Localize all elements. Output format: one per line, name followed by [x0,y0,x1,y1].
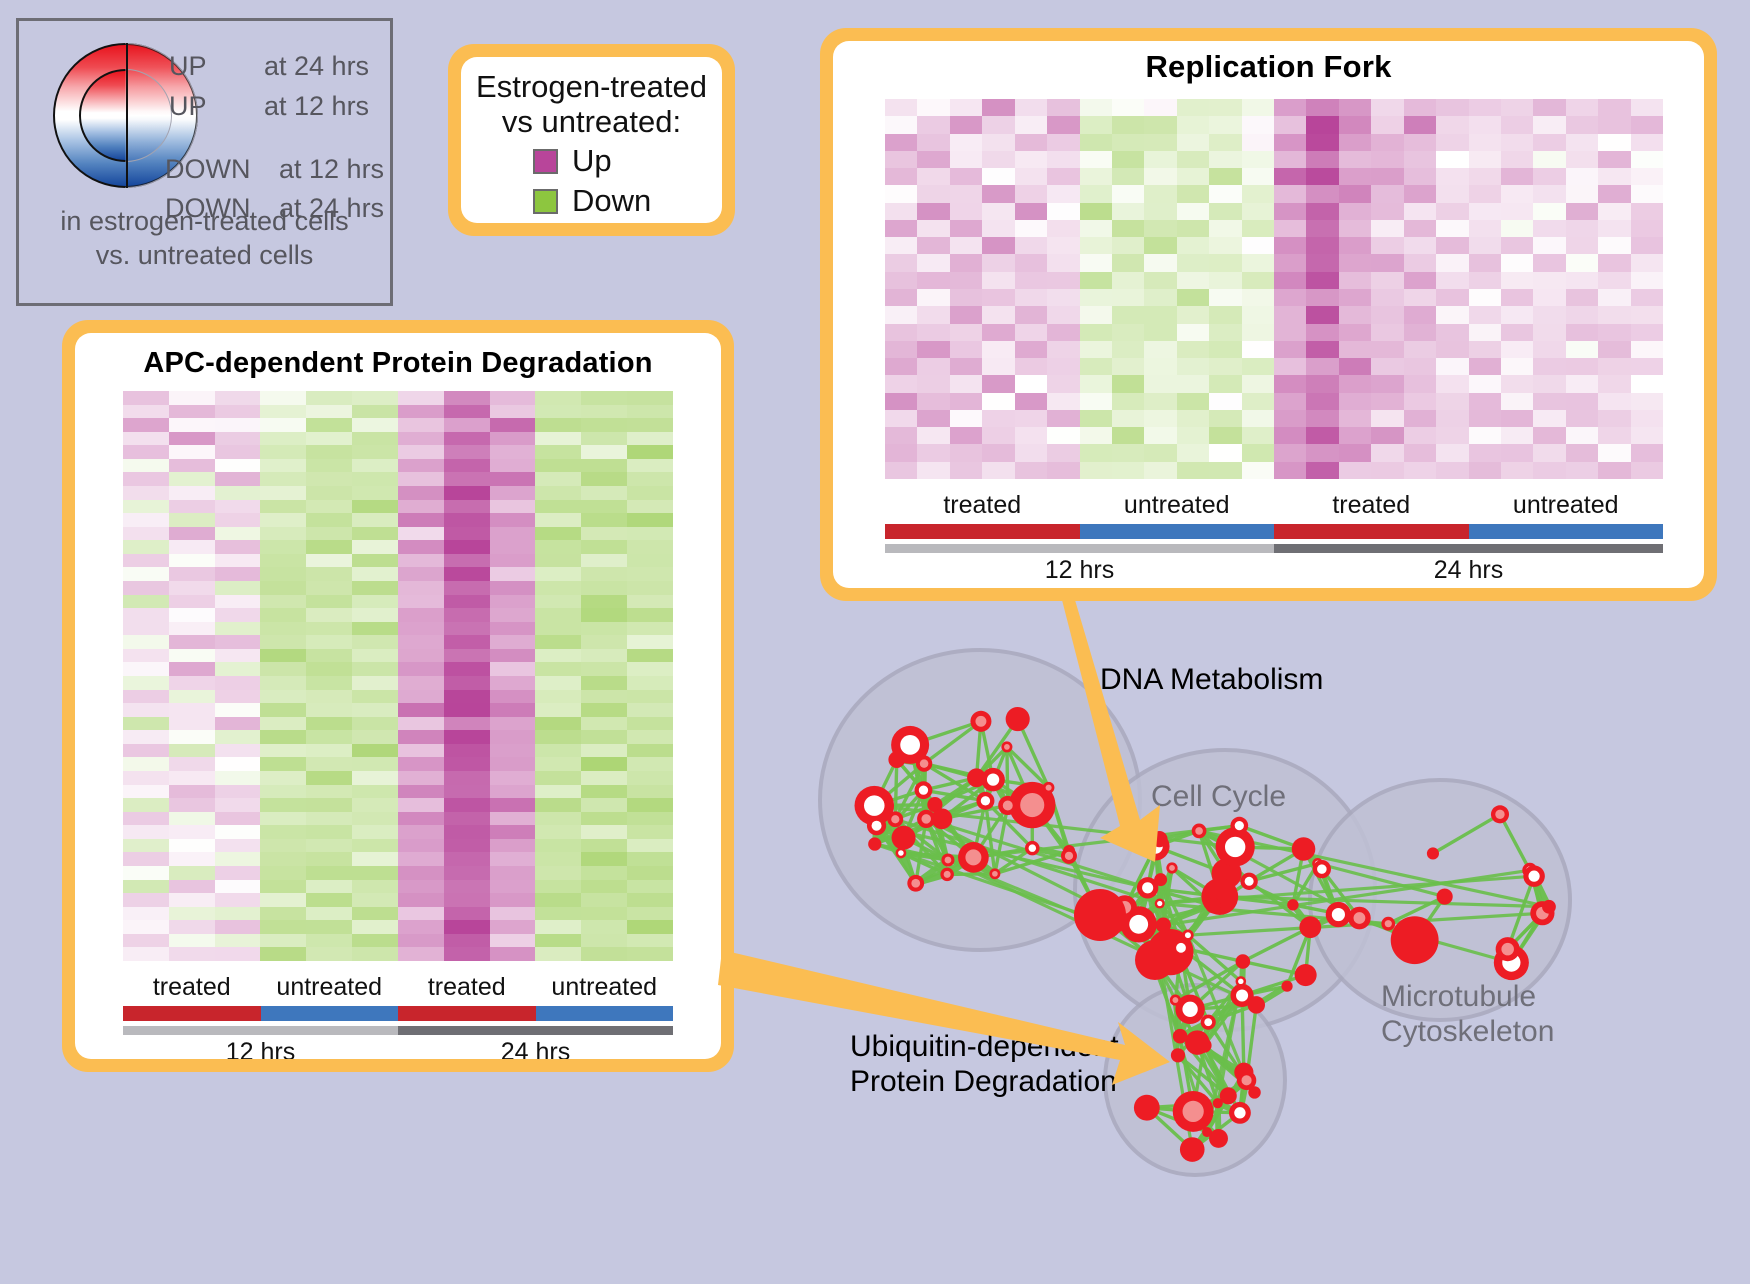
apc-degradation-panel: APC-dependent Protein Degradation treate… [62,320,734,1072]
replication-fork-axis: treateduntreatedtreateduntreated 12 hrs2… [885,491,1663,585]
legend-time-down12: at 12 hrs [279,154,384,185]
condition-label: untreated [1080,491,1275,520]
condition-color-bar [123,1006,673,1021]
network-svg [795,615,1750,1279]
legend-time-up12: at 12 hrs [264,91,369,122]
cluster-label-cell-cycle: Cell Cycle [1151,780,1286,814]
condition-label: untreated [1469,491,1664,520]
time-bar-segment [885,544,1274,553]
legend-footer-line1: in estrogen-treated cells [19,205,390,239]
cluster-label-microtubule: Microtubule [1381,980,1554,1015]
condition-color-bar [885,524,1663,539]
cluster-label-microtubule-cytoskeleton: Microtubule Cytoskeleton [1381,980,1554,1050]
condition-bar-segment [261,1006,399,1021]
time-bar-segment [123,1026,398,1035]
condition-bar-segment [398,1006,536,1021]
condition-label: treated [123,973,261,1002]
legend-footer-line2: vs. untreated cells [19,239,390,273]
legend-label-up: Up [572,143,612,179]
time-label: 24 hrs [1274,556,1663,585]
down-swatch-icon [533,189,558,214]
time-label: 12 hrs [123,1038,398,1059]
legend-item-up: Up [533,143,722,179]
legend-key-down12: DOWN [165,154,250,185]
figure-canvas: UP at 24 hrs UP at 12 hrs DOWN at 12 hrs… [0,0,1750,1279]
condition-bar-segment [1274,524,1469,539]
time-label: 12 hrs [885,556,1274,585]
up-down-legend-panel: Estrogen-treated vs untreated: Up Down [448,44,735,236]
legend-title-line1: Estrogen-treated [461,70,722,105]
time-bar-segment [1274,544,1663,553]
gene-network-diagram: DNA Metabolism Cell Cycle Microtubule Cy… [795,615,1750,1279]
up-swatch-icon [533,149,558,174]
expression-direction-legend: UP at 24 hrs UP at 12 hrs DOWN at 12 hrs… [16,18,393,306]
cluster-label-dna-metabolism: DNA Metabolism [1100,663,1323,697]
condition-bar-segment [1080,524,1275,539]
ubiquitin-label-line2: Protein Degradation [850,1065,1119,1100]
condition-label: untreated [536,973,674,1002]
condition-bar-segment [536,1006,674,1021]
condition-bar-segment [1469,524,1664,539]
legend-footer: in estrogen-treated cells vs. untreated … [19,205,390,273]
legend-item-down: Down [533,183,722,219]
cluster-label-cytoskeleton: Cytoskeleton [1381,1015,1554,1050]
replication-fork-title: Replication Fork [833,41,1704,85]
condition-labels: treateduntreatedtreateduntreated [885,491,1663,520]
legend-key-up12: UP [169,91,207,122]
time-label: 24 hrs [398,1038,673,1059]
condition-label: treated [1274,491,1469,520]
time-labels: 12 hrs24 hrs [123,1038,673,1059]
time-bar-segment [398,1026,673,1035]
legend-time-up24: at 24 hrs [264,51,369,82]
ubiquitin-label-line1: Ubiquitin-dependent [850,1030,1119,1065]
condition-bar-segment [885,524,1080,539]
time-color-bar [885,544,1663,553]
legend-key-up24: UP [169,51,207,82]
condition-label: treated [398,973,536,1002]
replication-fork-panel: Replication Fork treateduntreatedtreated… [820,28,1717,601]
apc-axis: treateduntreatedtreateduntreated 12 hrs2… [123,973,673,1059]
up-down-legend-title: Estrogen-treated vs untreated: [461,57,722,139]
time-color-bar [123,1026,673,1035]
legend-label-down: Down [572,183,651,219]
replication-fork-heatmap [885,99,1663,479]
apc-degradation-title: APC-dependent Protein Degradation [75,333,721,380]
apc-degradation-heatmap [123,391,673,961]
time-labels: 12 hrs24 hrs [885,556,1663,585]
condition-labels: treateduntreatedtreateduntreated [123,973,673,1002]
condition-bar-segment [123,1006,261,1021]
legend-title-line2: vs untreated: [461,105,722,140]
cluster-label-ubiquitin-degradation: Ubiquitin-dependent Protein Degradation [850,1030,1119,1100]
condition-label: treated [885,491,1080,520]
condition-label: untreated [261,973,399,1002]
